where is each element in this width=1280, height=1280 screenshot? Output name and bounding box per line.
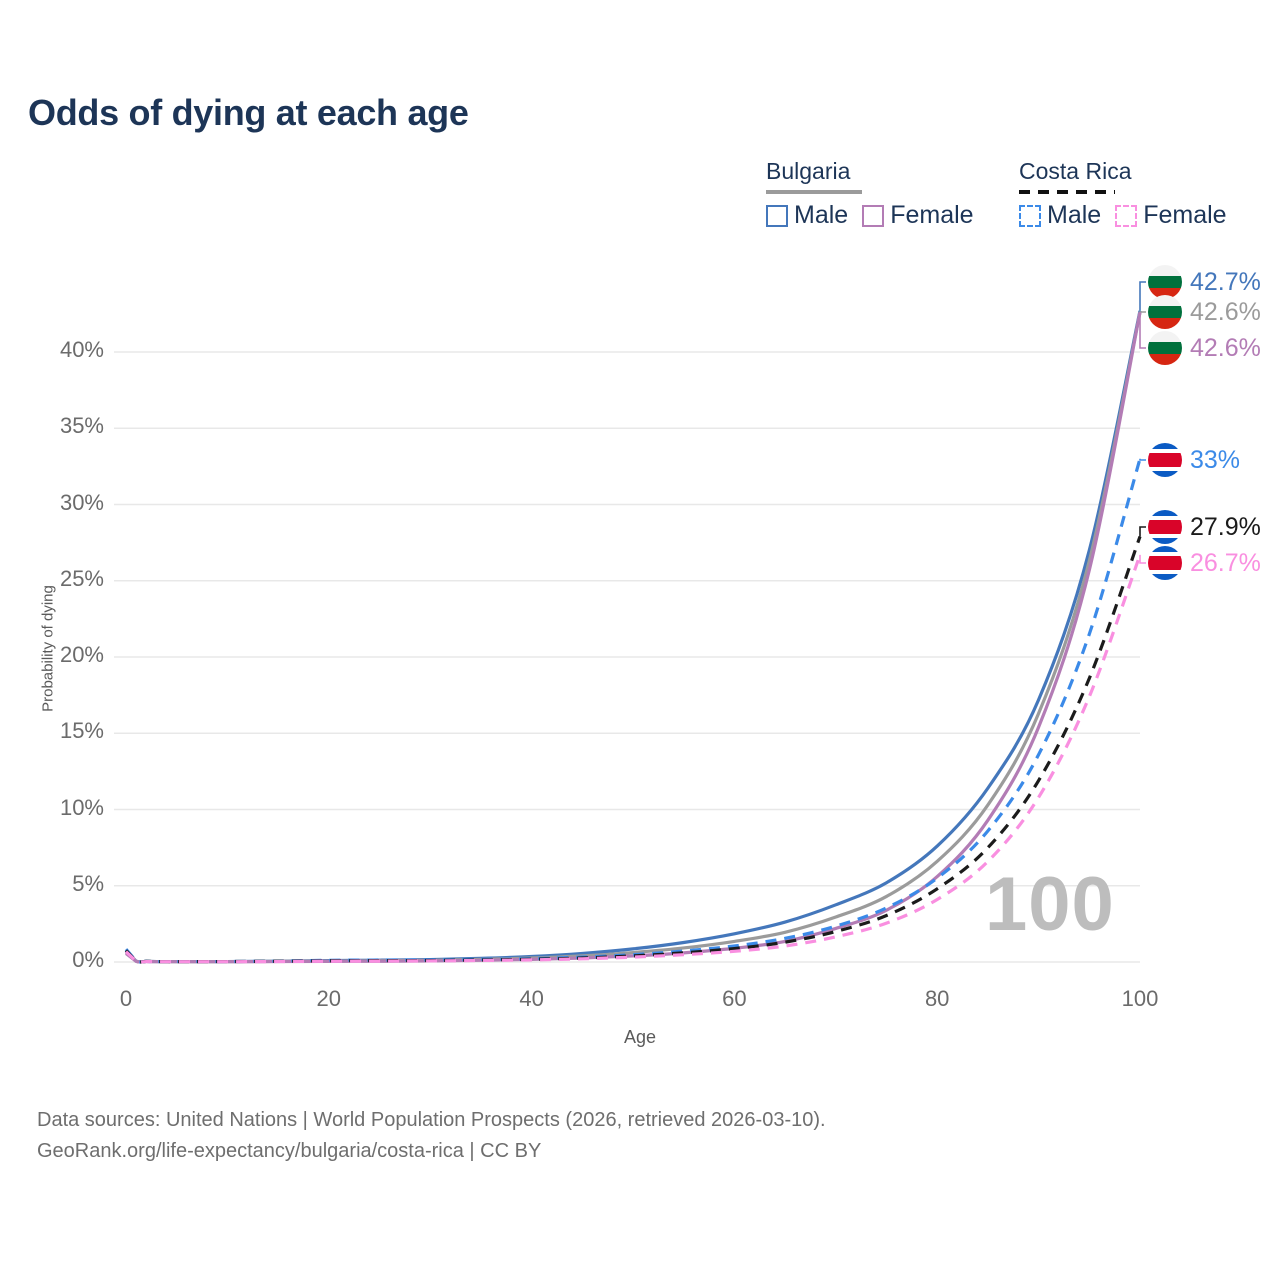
series-end-label: 42.7% bbox=[1148, 265, 1261, 299]
series-end-label: 33% bbox=[1148, 443, 1240, 477]
flag-icon-costarica bbox=[1148, 510, 1182, 544]
y-axis-tick-label: 30% bbox=[14, 490, 104, 516]
x-axis-title: Age bbox=[0, 1027, 1280, 1048]
x-axis-tick-label: 20 bbox=[284, 986, 374, 1012]
x-axis-tick-label: 100 bbox=[1095, 986, 1185, 1012]
leader-line bbox=[1140, 555, 1146, 563]
flag-icon-bulgaria bbox=[1148, 331, 1182, 365]
series-end-label: 42.6% bbox=[1148, 331, 1261, 365]
y-axis-tick-label: 0% bbox=[14, 947, 104, 973]
series-end-label: 26.7% bbox=[1148, 546, 1261, 580]
y-axis-tick-label: 35% bbox=[14, 413, 104, 439]
y-axis-tick-label: 40% bbox=[14, 337, 104, 363]
series-end-value: 26.7% bbox=[1190, 551, 1261, 576]
flag-icon-bulgaria bbox=[1148, 265, 1182, 299]
y-axis-tick-label: 10% bbox=[14, 795, 104, 821]
series-end-value: 42.6% bbox=[1190, 300, 1261, 325]
y-axis-tick-label: 15% bbox=[14, 718, 104, 744]
chart-watermark: 100 bbox=[985, 867, 1115, 943]
x-axis-tick-label: 60 bbox=[689, 986, 779, 1012]
flag-icon-costarica bbox=[1148, 443, 1182, 477]
series-end-value: 42.7% bbox=[1190, 270, 1261, 295]
series-end-label: 27.9% bbox=[1148, 510, 1261, 544]
x-axis-tick-label: 40 bbox=[487, 986, 577, 1012]
x-axis-tick-label: 80 bbox=[892, 986, 982, 1012]
x-axis-tick-label: 0 bbox=[81, 986, 171, 1012]
flag-icon-costarica bbox=[1148, 546, 1182, 580]
series-end-value: 42.6% bbox=[1190, 336, 1261, 361]
chart-leader-lines bbox=[1140, 282, 1146, 563]
chart-plot-area: Probability of dying Age 0%5%10%15%20%25… bbox=[0, 0, 1280, 1060]
leader-line bbox=[1140, 312, 1146, 348]
series-end-value: 27.9% bbox=[1190, 515, 1261, 540]
y-axis-tick-label: 20% bbox=[14, 642, 104, 668]
footer-data-sources: Data sources: United Nations | World Pop… bbox=[37, 1105, 1237, 1136]
y-axis-tick-label: 5% bbox=[14, 871, 104, 897]
series-end-label: 42.6% bbox=[1148, 295, 1261, 329]
y-axis-tick-label: 25% bbox=[14, 566, 104, 592]
chart-footer: Data sources: United Nations | World Pop… bbox=[37, 1105, 1237, 1167]
leader-line bbox=[1140, 459, 1146, 460]
footer-attribution: GeoRank.org/life-expectancy/bulgaria/cos… bbox=[37, 1136, 1237, 1167]
series-end-value: 33% bbox=[1190, 448, 1240, 473]
leader-line bbox=[1140, 527, 1146, 537]
leader-line bbox=[1140, 282, 1146, 311]
flag-icon-bulgaria bbox=[1148, 295, 1182, 329]
